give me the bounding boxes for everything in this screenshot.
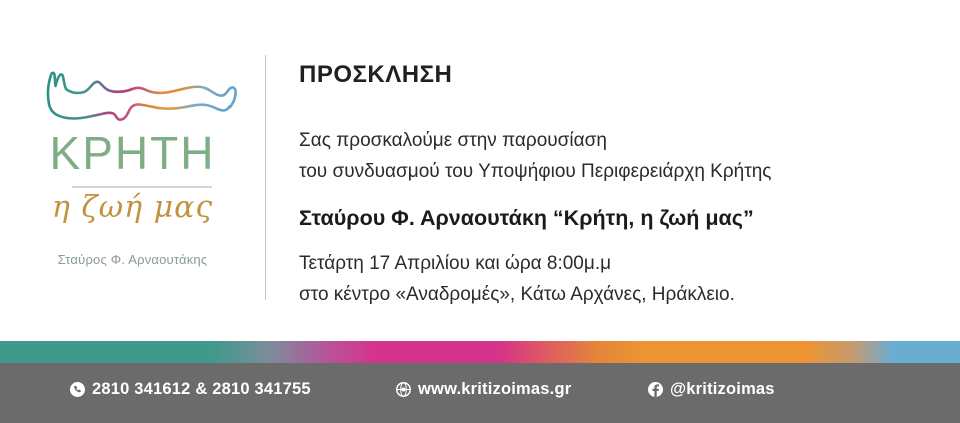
- footer-phone: 2810 341612 & 2810 341755: [70, 380, 311, 399]
- invitation-card: ΚΡΗΤΗ η ζωή μας Σταύρος Φ. Αρναουτάκης Π…: [0, 0, 960, 423]
- event-datetime-line: Τετάρτη 17 Απριλίου και ώρα 8:00μ.μ: [299, 249, 919, 279]
- page-title: ΠΡΟΣΚΛΗΣΗ: [299, 62, 919, 88]
- invite-line-2: του συνδυασμού του Υποψήφιου Περιφερειάρ…: [299, 157, 919, 187]
- candidate-slogan-line: Σταύρου Φ. Αρναουτάκη “Κρήτη, η ζωή μας”: [299, 203, 919, 233]
- facebook-icon: [648, 382, 663, 397]
- phone-icon: [70, 382, 85, 397]
- footer-bar: 2810 341612 & 2810 341755 www.kritizoima…: [0, 363, 960, 423]
- footer-website-label: www.kritizoimas.gr: [418, 380, 571, 399]
- globe-icon: [396, 382, 411, 397]
- event-venue-line: στο κέντρο «Αναδρομές», Κάτω Αρχάνες, Ηρ…: [299, 280, 919, 310]
- footer-social[interactable]: @kritizoimas: [648, 380, 775, 399]
- footer-phone-label: 2810 341612 & 2810 341755: [92, 380, 311, 399]
- logo-script-slogan: η ζωή μας: [0, 190, 265, 226]
- logo-person-name: Σταύρος Φ. Αρναουτάκης: [0, 252, 265, 267]
- invitation-content: ΠΡΟΣΚΛΗΣΗ Σας προσκαλούμε στην παρουσίασ…: [299, 62, 919, 310]
- vertical-divider: [265, 55, 266, 300]
- logo-column: ΚΡΗΤΗ η ζωή μας Σταύρος Φ. Αρναουτάκης: [0, 0, 265, 337]
- footer-social-label: @kritizoimas: [670, 380, 775, 399]
- footer-website[interactable]: www.kritizoimas.gr: [396, 380, 571, 399]
- invite-line-1: Σας προσκαλούμε στην παρουσίαση: [299, 126, 919, 156]
- logo-title: ΚΡΗΤΗ: [0, 130, 265, 176]
- crete-map-outline-icon: [42, 62, 242, 124]
- gradient-accent-bar: [0, 341, 960, 363]
- logo-rule-divider: [72, 186, 212, 188]
